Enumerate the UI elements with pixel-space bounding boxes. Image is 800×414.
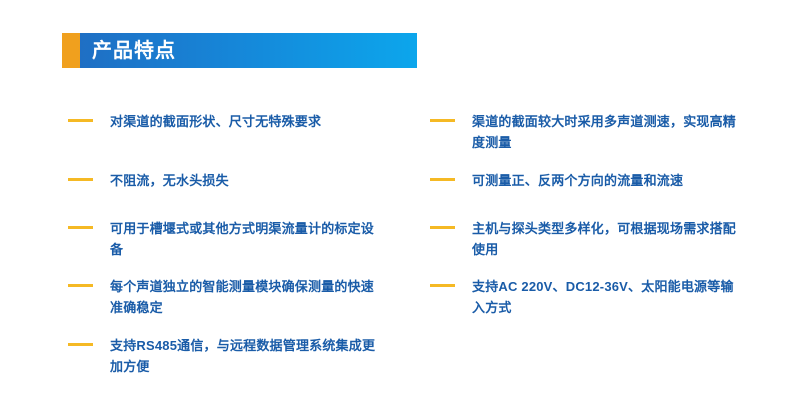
list-item-label: 不阻流，无水头损失 <box>110 170 378 191</box>
dash-icon <box>430 276 472 287</box>
header-gradient-bar: 产品特点 <box>80 33 417 68</box>
list-item: 渠道的截面较大时采用多声道测速，实现高精度测量 <box>430 111 742 153</box>
list-item-label: 支持AC 220V、DC12-36V、太阳能电源等输入方式 <box>472 276 742 318</box>
header-accent-block <box>62 33 80 68</box>
dash-icon <box>68 111 110 122</box>
page-title: 产品特点 <box>80 41 176 61</box>
dash-icon <box>68 218 110 229</box>
list-item: 主机与探头类型多样化，可根据现场需求搭配使用 <box>430 218 742 260</box>
dash-icon <box>68 335 110 346</box>
list-item-label: 主机与探头类型多样化，可根据现场需求搭配使用 <box>472 218 742 260</box>
list-item: 对渠道的截面形状、尺寸无特殊要求 <box>68 111 378 132</box>
list-item: 支持RS485通信，与远程数据管理系统集成更加方便 <box>68 335 378 377</box>
dash-icon <box>68 170 110 181</box>
list-item-label: 渠道的截面较大时采用多声道测速，实现高精度测量 <box>472 111 742 153</box>
list-item-label: 支持RS485通信，与远程数据管理系统集成更加方便 <box>110 335 378 377</box>
dash-icon <box>68 276 110 287</box>
list-item-label: 每个声道独立的智能测量模块确保测量的快速准确稳定 <box>110 276 378 318</box>
list-item: 可测量正、反两个方向的流量和流速 <box>430 170 742 191</box>
list-item: 不阻流，无水头损失 <box>68 170 378 191</box>
list-item: 每个声道独立的智能测量模块确保测量的快速准确稳定 <box>68 276 378 318</box>
list-item: 可用于槽堰式或其他方式明渠流量计的标定设备 <box>68 218 378 260</box>
list-item: 支持AC 220V、DC12-36V、太阳能电源等输入方式 <box>430 276 742 318</box>
list-item-label: 对渠道的截面形状、尺寸无特殊要求 <box>110 111 378 132</box>
dash-icon <box>430 218 472 229</box>
dash-icon <box>430 111 472 122</box>
dash-icon <box>430 170 472 181</box>
list-item-label: 可测量正、反两个方向的流量和流速 <box>472 170 742 191</box>
slide-root: 产品特点 对渠道的截面形状、尺寸无特殊要求 不阻流，无水头损失 可用于槽堰式或其… <box>0 0 800 414</box>
section-header: 产品特点 <box>62 33 417 68</box>
list-item-label: 可用于槽堰式或其他方式明渠流量计的标定设备 <box>110 218 378 260</box>
